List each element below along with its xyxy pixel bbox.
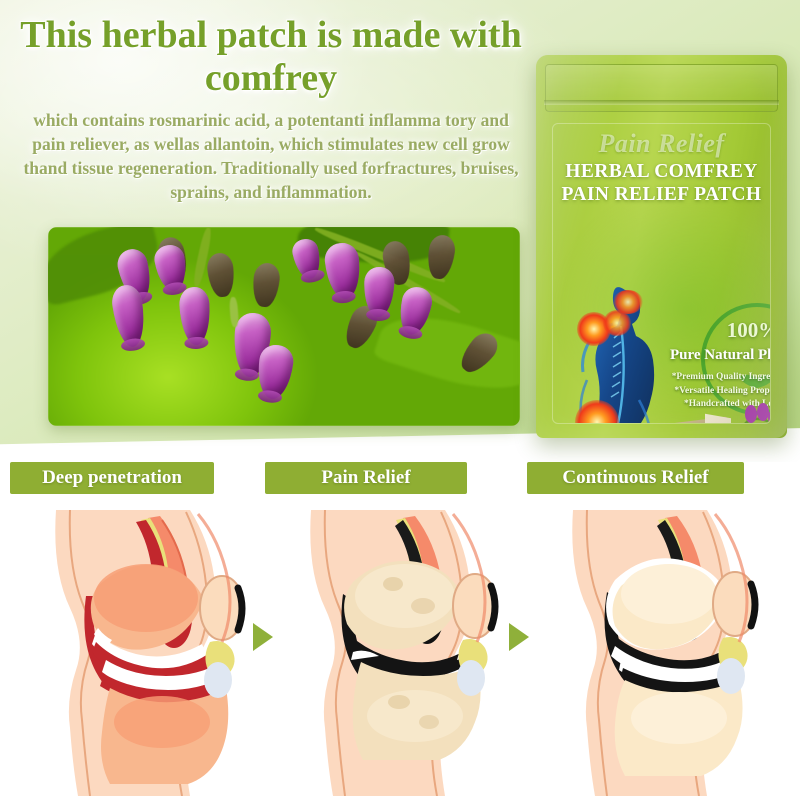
knee-svg-2 xyxy=(265,510,520,796)
package-seal xyxy=(545,64,778,112)
package-bullet-1: *Premium Quality Ingredients xyxy=(657,371,771,385)
package-script-text: Pain Relief xyxy=(536,129,787,159)
product-package[interactable]: 100% Pure Natural Plants *Premium Qualit… xyxy=(536,55,787,438)
knee-diagram-cartilage-restored xyxy=(527,476,782,796)
knee-diagram-inflamed xyxy=(10,476,265,796)
comfrey-sprig-illustration xyxy=(715,402,771,424)
comfrey-flowers-photo xyxy=(48,227,520,426)
hero-description: which contains rosmarinic acid, a potent… xyxy=(22,108,520,204)
package-title-line2: PAIN RELIEF PATCH xyxy=(540,183,783,206)
badge-percent: 100% xyxy=(703,318,771,343)
benefits-section: Deep penetration Pain Relief Continuous … xyxy=(0,462,800,800)
badge-text: Pure Natural Plants xyxy=(659,347,771,364)
knee-diagram-healthy-bone xyxy=(265,476,520,796)
knee-svg-3 xyxy=(527,510,782,796)
package-title: HERBAL COMFREY PAIN RELIEF PATCH xyxy=(540,160,783,206)
product-infographic: This herbal patch is made with comfrey w… xyxy=(0,0,800,800)
knee-svg-1 xyxy=(10,510,265,796)
page-title: This herbal patch is made with comfrey xyxy=(18,14,524,100)
pain-hotspot-neck xyxy=(603,310,631,336)
package-title-line1: HERBAL COMFREY xyxy=(540,160,783,183)
package-bullet-2: *Versatile Healing Properties xyxy=(657,385,771,399)
